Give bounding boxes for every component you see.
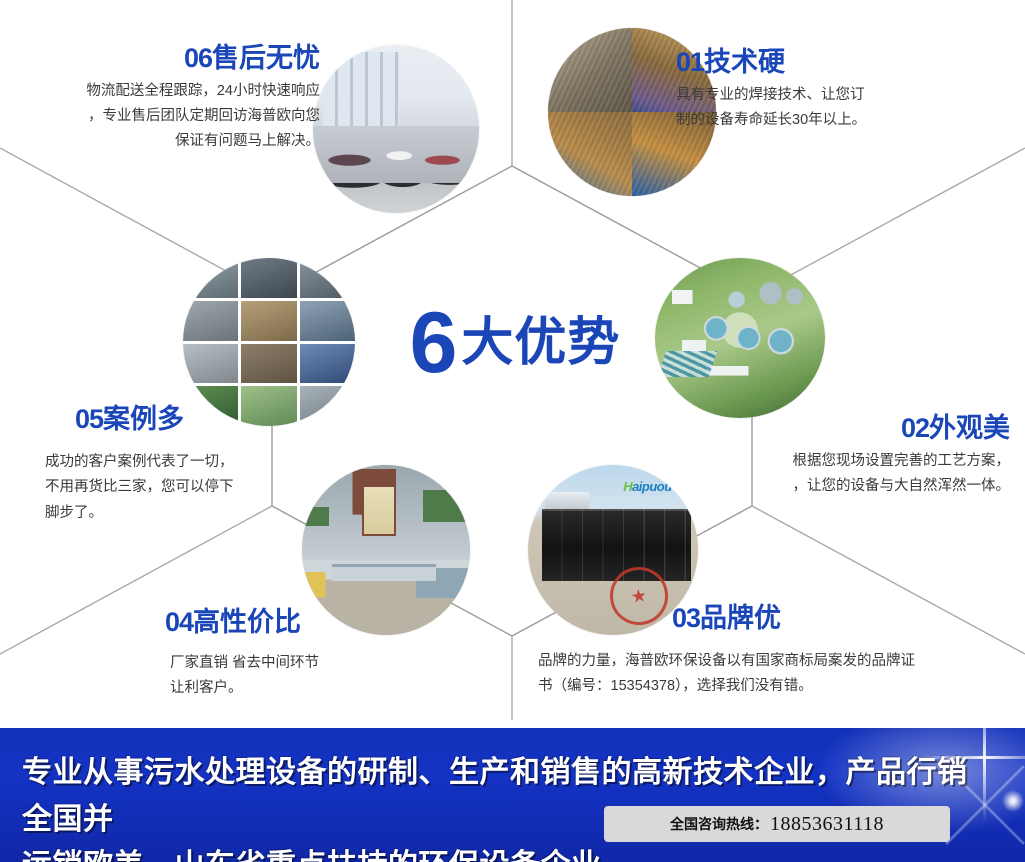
feature-title-01: 01技术硬 bbox=[676, 48, 1006, 78]
logo-initial: H bbox=[623, 479, 632, 494]
feature-desc-03: 品牌的力量，海普欧环保设备以有国家商标局案发的品牌证 书（编号：15354378… bbox=[538, 649, 1018, 700]
feature-desc-line: 保证有问题马上解决。 bbox=[10, 129, 320, 154]
feature-label-05: 案例多 bbox=[103, 404, 184, 434]
center-number: 6 bbox=[410, 300, 456, 386]
haipuou-logo: Haipuou bbox=[623, 479, 672, 494]
feature-label-03: 品牌优 bbox=[700, 603, 781, 633]
sewage-plant-aerial-view-image bbox=[655, 258, 825, 418]
feature-number-02: 02 bbox=[901, 413, 929, 443]
feature-block-05: 05案例多 bbox=[75, 405, 405, 435]
feature-desc-block-05: 成功的客户案例代表了一切， 不用再货比三家，您可以停下 脚步了。 bbox=[45, 445, 375, 526]
hotline-number: 18853631118 bbox=[770, 813, 884, 836]
center-title: 6 大优势 bbox=[385, 288, 645, 398]
banner-line-2: 远销欧美，山东省重点扶持的环保设备企业。 bbox=[22, 843, 982, 862]
feature-photo-05 bbox=[183, 258, 355, 426]
feature-desc-line: 厂家直销 省去中间环节 bbox=[170, 651, 500, 676]
sparkle-streak-vertical-icon bbox=[983, 728, 986, 822]
feature-title-03: 03品牌优 bbox=[672, 604, 1022, 634]
feature-desc-line: 让利客户。 bbox=[170, 676, 500, 701]
feature-desc-block-04: 厂家直销 省去中间环节 让利客户。 bbox=[170, 646, 500, 702]
feature-desc-05: 成功的客户案例代表了一切， 不用再货比三家，您可以停下 脚步了。 bbox=[45, 450, 375, 526]
feature-number-03: 03 bbox=[672, 603, 700, 633]
center-word: 大优势 bbox=[461, 317, 620, 369]
feature-title-06: 06售后无忧 bbox=[10, 44, 320, 74]
hotline-box[interactable]: 全国咨询热线： 18853631118 bbox=[604, 806, 950, 842]
feature-desc-04: 厂家直销 省去中间环节 让利客户。 bbox=[170, 651, 500, 702]
hotline-label: 全国咨询热线： bbox=[670, 814, 768, 834]
feature-block-04: 04高性价比 bbox=[165, 608, 495, 638]
feature-desc-line: 品牌的力量，海普欧环保设备以有国家商标局案发的品牌证 bbox=[538, 649, 1018, 674]
feature-title-04: 04高性价比 bbox=[165, 608, 495, 638]
feature-title-02: 02外观美 bbox=[640, 414, 1010, 444]
feature-number-06: 06 bbox=[184, 43, 212, 73]
feature-desc-line: 物流配送全程跟踪，24小时快速响应 bbox=[10, 79, 320, 104]
feature-desc-line: ，专业售后团队定期回访海普欧向您 bbox=[10, 104, 320, 129]
feature-number-04: 04 bbox=[165, 607, 193, 637]
feature-desc-line: 成功的客户案例代表了一切， bbox=[45, 450, 375, 475]
logo-text: aipuou bbox=[632, 479, 672, 494]
office-staff-at-computers-image bbox=[313, 45, 479, 213]
feature-desc-line: 不用再货比三家，您可以停下 bbox=[45, 475, 375, 500]
feature-label-01: 技术硬 bbox=[704, 47, 785, 77]
feature-number-01: 01 bbox=[676, 47, 704, 77]
feature-block-06: 06售后无忧 物流配送全程跟踪，24小时快速响应 ，专业售后团队定期回访海普欧向… bbox=[10, 44, 320, 155]
feature-photo-02 bbox=[655, 258, 825, 418]
feature-desc-block-03: 品牌的力量，海普欧环保设备以有国家商标局案发的品牌证 书（编号：15354378… bbox=[538, 644, 1018, 700]
feature-block-01: 01技术硬 具有专业的焊接技术、让您订 制的设备寿命延长30年以上。 bbox=[676, 48, 1006, 133]
feature-desc-line: 书（编号：15354378），选择我们没有错。 bbox=[538, 674, 1018, 699]
advantages-infographic: 6 大优势 06售后无忧 物流配送全程跟踪，24小时快速响应 ，专业售后团队定期… bbox=[0, 0, 1025, 862]
customer-case-photo-grid-image bbox=[183, 258, 355, 426]
feature-desc-01: 具有专业的焊接技术、让您订 制的设备寿命延长30年以上。 bbox=[676, 83, 1006, 134]
case-photo-grid bbox=[183, 258, 355, 426]
feature-desc-06: 物流配送全程跟踪，24小时快速响应 ，专业售后团队定期回访海普欧向您 保证有问题… bbox=[10, 79, 320, 155]
feature-label-02: 外观美 bbox=[929, 413, 1010, 443]
feature-block-03: 03品牌优 bbox=[672, 604, 1022, 634]
feature-desc-line: 具有专业的焊接技术、让您订 bbox=[676, 83, 1006, 108]
feature-label-06: 售后无忧 bbox=[212, 43, 320, 73]
feature-label-04: 高性价比 bbox=[193, 607, 301, 637]
feature-photo-06 bbox=[313, 45, 479, 213]
feature-title-05: 05案例多 bbox=[75, 405, 405, 435]
sparkle-dot-icon bbox=[1000, 788, 1025, 814]
feature-number-05: 05 bbox=[75, 404, 103, 434]
feature-desc-line: 制的设备寿命延长30年以上。 bbox=[676, 108, 1006, 133]
feature-desc-line: 脚步了。 bbox=[45, 501, 375, 526]
